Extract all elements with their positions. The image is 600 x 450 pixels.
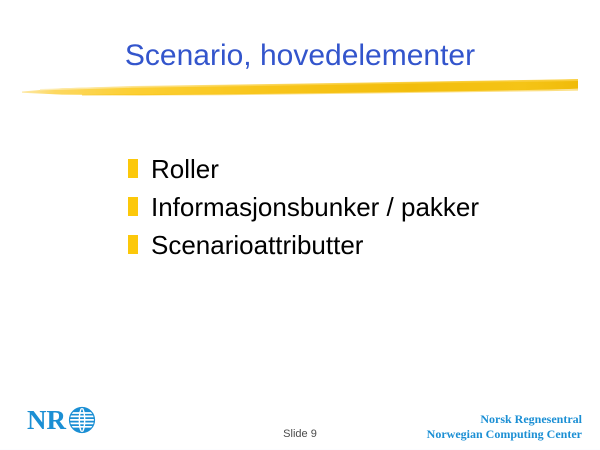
title-block: Scenario, hovedelementer: [0, 38, 600, 74]
square-bullet-icon: [128, 197, 138, 216]
list-item-label: Scenarioattributter: [151, 229, 363, 261]
organization-name: Norsk Regnesentral Norwegian Computing C…: [427, 412, 582, 442]
list-item: Informasjonsbunker / pakker: [128, 191, 558, 229]
page-title: Scenario, hovedelementer: [0, 38, 600, 74]
square-bullet-icon: [128, 235, 138, 254]
presentation-slide: Scenario, hovedelementer: [0, 0, 600, 450]
bullet-list: Roller Informasjonsbunker / pakker Scena…: [128, 153, 558, 267]
list-item-label: Informasjonsbunker / pakker: [151, 191, 479, 223]
square-bullet-icon: [128, 159, 138, 178]
list-item-label: Roller: [151, 153, 219, 185]
org-name-line-1: Norsk Regnesentral: [427, 412, 582, 427]
list-item: Roller: [128, 153, 558, 191]
list-item: Scenarioattributter: [128, 229, 558, 267]
brush-stroke-divider: [22, 76, 578, 102]
org-name-line-2: Norwegian Computing Center: [427, 427, 582, 442]
